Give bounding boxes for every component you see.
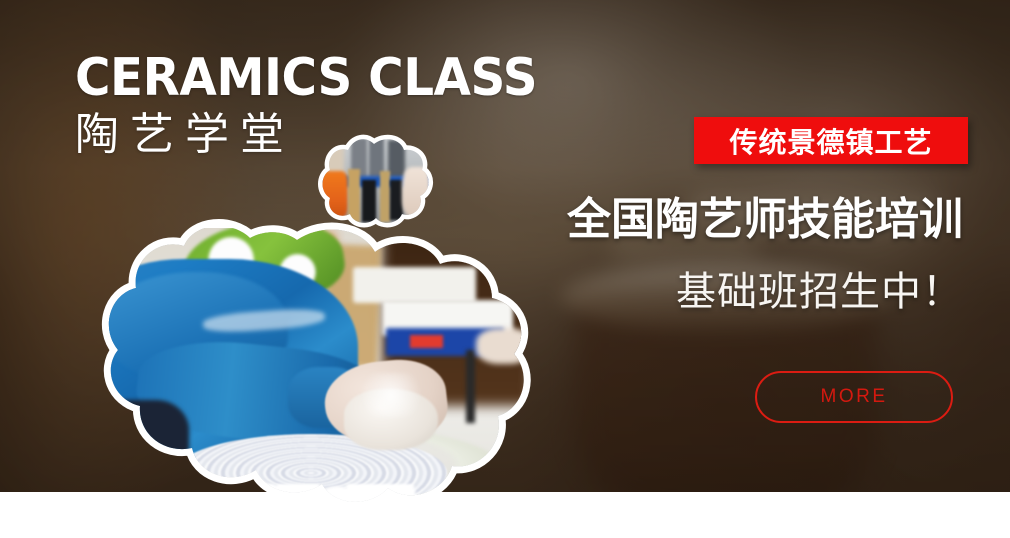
page-title-english: CERAMICS CLASS — [75, 52, 537, 104]
more-button-label: MORE — [821, 386, 888, 408]
headline-primary: 全国陶艺师技能培训 — [567, 198, 963, 242]
headline-group: 全国陶艺师技能培训 基础班招生中！ — [567, 198, 963, 312]
cloud-photo-large — [62, 228, 532, 506]
status-badge-label: 传统景德镇工艺 — [729, 121, 932, 161]
ceramics-class-banner: CERAMICS CLASS 陶艺学堂 传统景德镇工艺 全国陶艺师技能培训 基础… — [0, 0, 1010, 538]
status-badge: 传统景德镇工艺 — [694, 117, 968, 164]
headline-secondary: 基础班招生中！ — [567, 272, 963, 312]
more-button[interactable]: MORE — [755, 371, 953, 423]
title-block: CERAMICS CLASS 陶艺学堂 — [75, 52, 572, 158]
cloud-photo-large-frame — [62, 228, 532, 506]
page-title-chinese: 陶艺学堂 — [75, 112, 572, 158]
